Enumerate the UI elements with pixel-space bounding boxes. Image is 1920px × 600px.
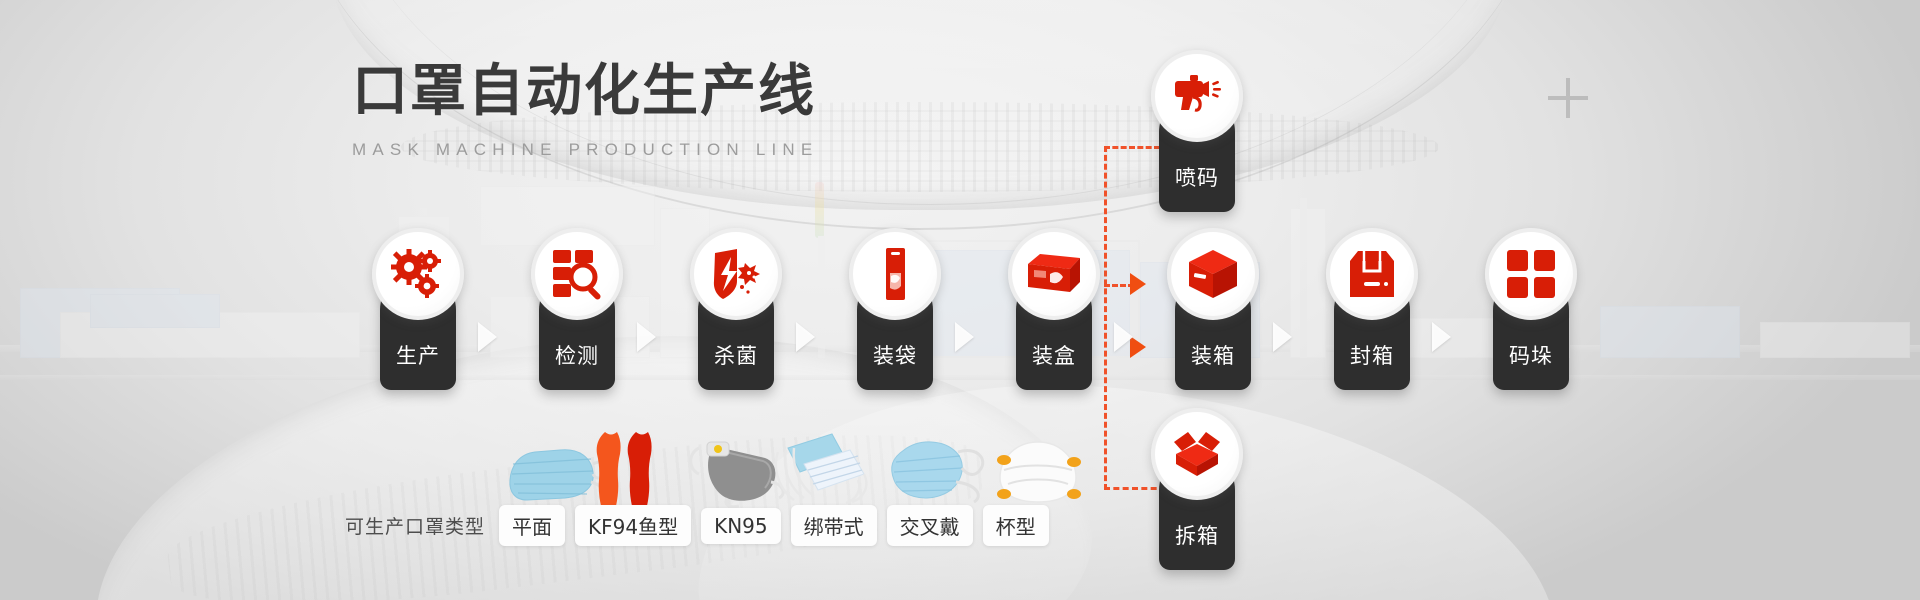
flow-step-label: 生产 xyxy=(372,340,464,370)
flat-box-icon xyxy=(1008,228,1100,320)
flow-arrow-3 xyxy=(796,322,815,352)
flow-step-label: 检测 xyxy=(531,340,623,370)
flow-step-label: 装袋 xyxy=(849,340,941,370)
flow-step-label: 杀菌 xyxy=(690,340,782,370)
gears-icon xyxy=(372,228,464,320)
open-carton-icon xyxy=(1151,408,1243,500)
branch-dashed-vertical xyxy=(1104,146,1107,490)
flow-step-label: 装盒 xyxy=(1008,340,1100,370)
branch-dashed-bottom-horizontal xyxy=(1104,487,1166,490)
sealed-carton-icon xyxy=(1326,228,1418,320)
branch-arrow-to-carton-upper xyxy=(1130,273,1146,295)
flow-arrow-5 xyxy=(1114,322,1133,352)
branch-dashed-top-horizontal xyxy=(1104,146,1160,149)
banner-stage: 口罩自动化生产线 MASK MACHINE PRODUCTION LINE xyxy=(0,0,1920,600)
flow-arrow-2 xyxy=(637,322,656,352)
flow-arrow-6 xyxy=(1273,322,1292,352)
flow-arrow-4 xyxy=(955,322,974,352)
production-flow-diagram: 生产 检测 xyxy=(0,0,1920,600)
shield-lightning-icon xyxy=(690,228,782,320)
mask-bag-icon xyxy=(849,228,941,320)
magnifier-blocks-icon xyxy=(531,228,623,320)
flow-step-label: 拆箱 xyxy=(1151,520,1243,550)
flow-arrow-7 xyxy=(1432,322,1451,352)
spray-gun-icon xyxy=(1151,50,1243,142)
flow-step-label: 码垛 xyxy=(1485,340,1577,370)
flow-arrow-1 xyxy=(478,322,497,352)
flow-step-label: 喷码 xyxy=(1151,162,1243,192)
four-squares-palletize-icon xyxy=(1485,228,1577,320)
flow-step-label: 封箱 xyxy=(1326,340,1418,370)
cube-carton-icon xyxy=(1167,228,1259,320)
flow-step-label: 装箱 xyxy=(1167,340,1259,370)
